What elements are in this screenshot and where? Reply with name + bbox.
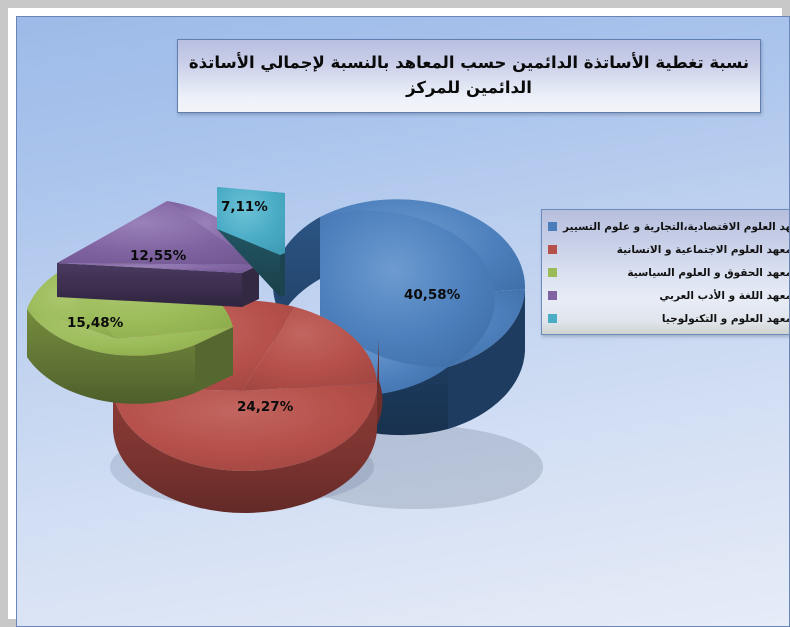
legend-label-4: معهد اللغة و الأدب العربي xyxy=(563,290,790,302)
pie-slice-5[interactable] xyxy=(27,167,547,547)
chart-title-box: نسبة تغطية الأساتذة الدائمين حسب المعاهد… xyxy=(177,39,761,113)
legend-label-1: معهد العلوم الاقتصادية،التجارية و علوم ا… xyxy=(563,221,790,233)
legend-item-5[interactable]: معهد العلوم و التكنولوجيا xyxy=(548,307,790,330)
chart-plot-area: نسبة تغطية الأساتذة الدائمين حسب المعاهد… xyxy=(16,16,790,627)
legend-swatch-icon-5 xyxy=(548,314,557,323)
legend-swatch-icon-4 xyxy=(548,291,557,300)
legend-item-4[interactable]: معهد اللغة و الأدب العربي xyxy=(548,284,790,307)
legend-swatch-icon-1 xyxy=(548,222,557,231)
legend-swatch-icon-3 xyxy=(548,268,557,277)
page-title: نسبة تغطية الأساتذة الدائمين حسب المعاهد… xyxy=(184,51,754,101)
chart-frame: نسبة تغطية الأساتذة الدائمين حسب المعاهد… xyxy=(0,0,790,627)
legend-label-3: معهد الحقوق و العلوم السياسية xyxy=(563,267,790,279)
legend-item-1[interactable]: معهد العلوم الاقتصادية،التجارية و علوم ا… xyxy=(548,215,790,238)
legend-swatch-icon-2 xyxy=(548,245,557,254)
legend-label-5: معهد العلوم و التكنولوجيا xyxy=(563,313,790,325)
legend-item-2[interactable]: معهد العلوم الاجتماعية و الانسانية xyxy=(548,238,790,261)
legend-item-3[interactable]: معهد الحقوق و العلوم السياسية xyxy=(548,261,790,284)
chart-legend: معهد العلوم الاقتصادية،التجارية و علوم ا… xyxy=(541,209,790,335)
legend-label-2: معهد العلوم الاجتماعية و الانسانية xyxy=(563,244,790,256)
pie-chart: 40,58% xyxy=(27,167,547,547)
